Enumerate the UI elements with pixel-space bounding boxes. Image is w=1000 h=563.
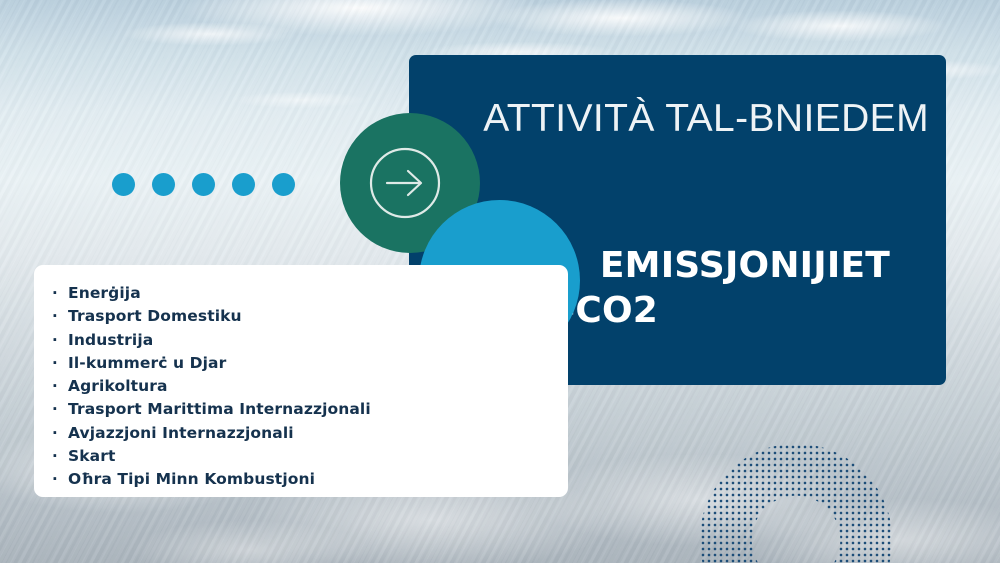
list-item: ·Avjazzjoni Internazzjonali bbox=[52, 422, 568, 445]
list-bullet-icon: · bbox=[52, 398, 68, 421]
list-bullet-icon: · bbox=[52, 282, 68, 305]
list-item-label: Trasport Marittima Internazzjonali bbox=[68, 398, 371, 421]
list-item-label: Industrija bbox=[68, 329, 153, 352]
list-item: ·Trasport Domestiku bbox=[52, 305, 568, 328]
list-bullet-icon: · bbox=[52, 329, 68, 352]
list-bullet-icon: · bbox=[52, 422, 68, 445]
list-item-label: Trasport Domestiku bbox=[68, 305, 242, 328]
dotted-arch-ring bbox=[700, 444, 892, 563]
list-bullet-icon: · bbox=[52, 352, 68, 375]
list-item: ·Industrija bbox=[52, 329, 568, 352]
list-item-label: Avjazzjoni Internazzjonali bbox=[68, 422, 294, 445]
list-bullet-icon: · bbox=[52, 375, 68, 398]
list-bullet-icon: · bbox=[52, 468, 68, 491]
list-item-label: Il-kummerċ u Djar bbox=[68, 352, 226, 375]
list-bullet-icon: · bbox=[52, 445, 68, 468]
page-title: ATTIVITÀ TAL-BNIEDEM bbox=[449, 98, 929, 141]
list-item: ·Trasport Marittima Internazzjonali bbox=[52, 398, 568, 421]
accent-dot bbox=[152, 173, 175, 196]
list-item: ·Skart bbox=[52, 445, 568, 468]
dot-row-decoration bbox=[112, 173, 295, 196]
list-item-label: Agrikoltura bbox=[68, 375, 168, 398]
list-item: ·Enerġija bbox=[52, 282, 568, 305]
arrow-right-in-circle-icon[interactable] bbox=[368, 146, 442, 220]
sector-list-card: ·Enerġija ·Trasport Domestiku ·Industrij… bbox=[34, 265, 568, 497]
list-bullet-icon: · bbox=[52, 305, 68, 328]
list-item: ·Oħra Tipi Minn Kombustjoni bbox=[52, 468, 568, 491]
sector-list: ·Enerġija ·Trasport Domestiku ·Industrij… bbox=[34, 265, 568, 492]
accent-dot bbox=[272, 173, 295, 196]
list-item-label: Skart bbox=[68, 445, 115, 468]
list-item-label: Oħra Tipi Minn Kombustjoni bbox=[68, 468, 315, 491]
slide-canvas: ATTIVITÀ TAL-BNIEDEM EMISSJONIJIET TAS-C… bbox=[0, 0, 1000, 563]
list-item: ·Il-kummerċ u Djar bbox=[52, 352, 568, 375]
subtitle-line-1: EMISSJONIJIET bbox=[600, 245, 890, 286]
accent-dot bbox=[232, 173, 255, 196]
dotted-arch-decoration bbox=[700, 444, 892, 563]
accent-dot bbox=[192, 173, 215, 196]
list-item-label: Enerġija bbox=[68, 282, 141, 305]
list-item: ·Agrikoltura bbox=[52, 375, 568, 398]
accent-dot bbox=[112, 173, 135, 196]
